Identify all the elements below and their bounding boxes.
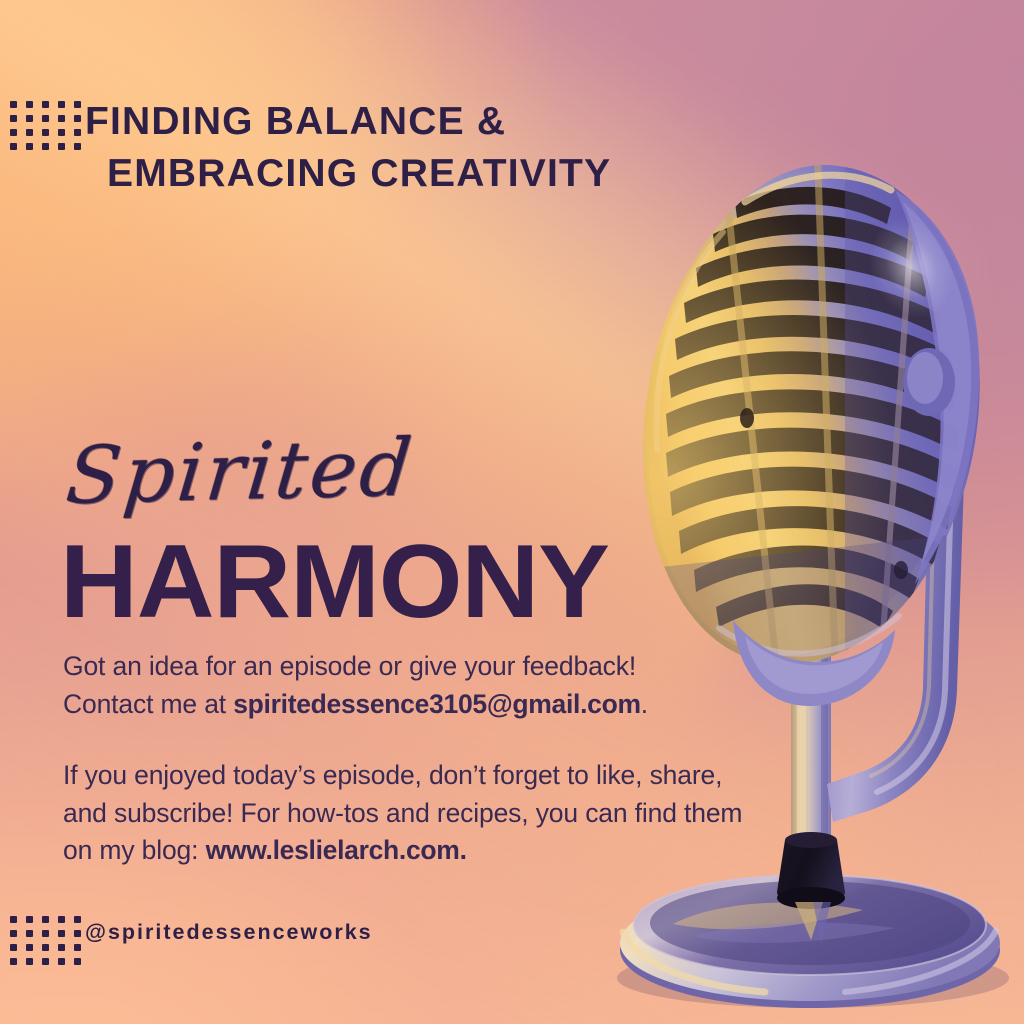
dot — [26, 930, 33, 937]
dot — [10, 143, 17, 150]
dot — [58, 115, 65, 122]
dot — [10, 129, 17, 136]
dot — [58, 101, 65, 108]
dot-grid-top — [10, 101, 81, 150]
dot — [26, 129, 33, 136]
dot — [58, 143, 65, 150]
dot — [74, 944, 81, 951]
dot — [10, 958, 17, 965]
blog-url[interactable]: www.leslielarch.com. — [206, 835, 467, 865]
dot — [58, 958, 65, 965]
dot — [58, 916, 65, 923]
dot — [10, 916, 17, 923]
dot — [58, 930, 65, 937]
contact-email[interactable]: spiritedessence3105@gmail.com — [233, 689, 641, 719]
dot — [42, 129, 49, 136]
dot — [26, 143, 33, 150]
dot-grid-bottom — [10, 916, 81, 965]
contact-paragraph: Got an idea for an episode or give your … — [63, 648, 723, 723]
dot — [74, 101, 81, 108]
dot — [58, 944, 65, 951]
dot — [10, 101, 17, 108]
brand-wordmark: HARMONY — [60, 530, 609, 634]
dot — [74, 916, 81, 923]
dot — [10, 930, 17, 937]
subscribe-paragraph: If you enjoyed today’s episode, don’t fo… — [63, 757, 763, 870]
dot — [10, 944, 17, 951]
dot — [42, 958, 49, 965]
dot — [26, 944, 33, 951]
dot — [42, 143, 49, 150]
dot — [74, 115, 81, 122]
dot — [74, 930, 81, 937]
dot — [26, 115, 33, 122]
contact-suffix: . — [641, 689, 648, 719]
episode-title-line-1: FINDING BALANCE & — [85, 100, 506, 143]
episode-title: FINDING BALANCE & EMBRACING CREATIVITY — [85, 96, 705, 200]
episode-title-line-2: EMBRACING CREATIVITY — [85, 148, 705, 200]
social-handle[interactable]: @spiritedessenceworks — [85, 920, 373, 945]
dot — [42, 930, 49, 937]
dot — [74, 129, 81, 136]
dot — [42, 916, 49, 923]
poster-canvas: FINDING BALANCE & EMBRACING CREATIVITY S… — [0, 0, 1024, 1024]
dot — [42, 101, 49, 108]
dot — [74, 143, 81, 150]
dot — [42, 115, 49, 122]
dot — [74, 958, 81, 965]
dot — [26, 916, 33, 923]
contact-prefix: Contact me at — [63, 689, 233, 719]
dot — [58, 129, 65, 136]
dot — [26, 958, 33, 965]
dot — [10, 115, 17, 122]
brand-script-word: Spirited — [63, 429, 418, 516]
dot — [42, 944, 49, 951]
contact-lead: Got an idea for an episode or give your … — [63, 651, 636, 681]
dot — [26, 101, 33, 108]
